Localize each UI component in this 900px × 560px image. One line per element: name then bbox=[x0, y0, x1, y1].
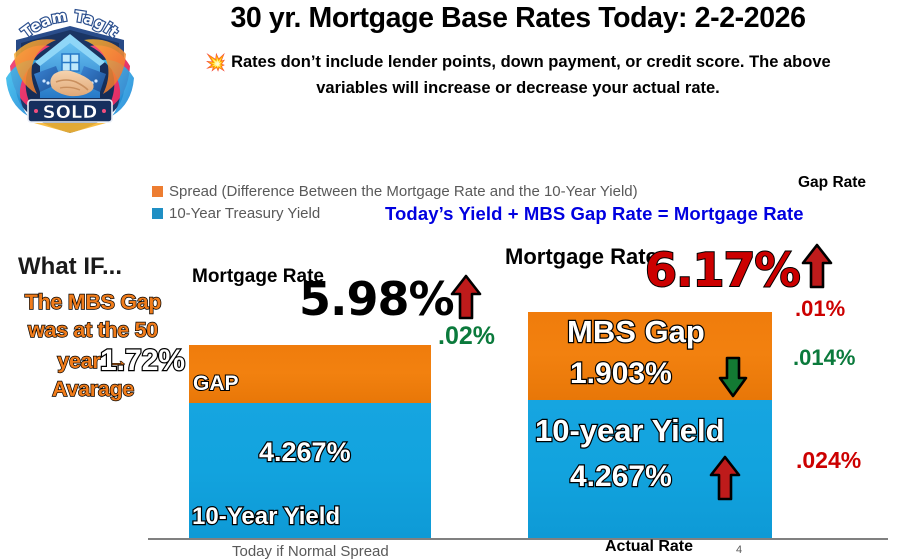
arrow-up-red-icon bbox=[449, 274, 483, 320]
legend-label-spread: Spread (Difference Between the Mortgage … bbox=[169, 183, 638, 200]
right-gap-value: 1.903% bbox=[570, 357, 672, 391]
right-delta-rate-value: .01% bbox=[795, 296, 845, 322]
team-tagit-sold-logo: SOLD Team Tagit bbox=[4, 2, 136, 136]
legend-swatch-spread-icon bbox=[152, 186, 163, 197]
right-mortgage-rate-label: Mortgage Rate bbox=[505, 245, 645, 270]
chart-axis-line bbox=[148, 538, 888, 540]
right-yield-value: 4.267% bbox=[570, 460, 672, 494]
left-gap-label: GAP bbox=[193, 372, 239, 396]
right-gap-label: MBS Gap bbox=[567, 314, 705, 350]
left-mortgage-rate-value: 5.98% bbox=[299, 272, 454, 326]
arrow-down-green-icon bbox=[718, 356, 748, 398]
formula-text: Today’s Yield + MBS Gap Rate = Mortgage … bbox=[385, 203, 804, 225]
left-delta-value: .02% bbox=[438, 322, 495, 351]
gap-rate-column-label: Gap Rate bbox=[798, 174, 866, 192]
slide-root: SOLD Team Tagit 30 yr. Mortgage Base Rat… bbox=[0, 0, 900, 560]
collision-burst-icon: 💥 bbox=[205, 53, 226, 72]
subtitle-text: Rates don’t include lender points, down … bbox=[231, 53, 831, 97]
legend-label-yield: 10-Year Treasury Yield bbox=[169, 205, 320, 222]
what-if-heading: What IF... bbox=[18, 253, 122, 281]
what-if-line-4: Avarage bbox=[4, 375, 182, 403]
left-yield-label: 10-Year Yield bbox=[192, 503, 340, 531]
what-if-line-1: The MBS Gap bbox=[4, 288, 182, 316]
category-label-right: Actual Rate bbox=[605, 538, 693, 556]
left-mortgage-rate-label: Mortgage Rate bbox=[192, 266, 302, 287]
right-yield-label: 10-year Yield bbox=[535, 413, 725, 449]
svg-text:SOLD: SOLD bbox=[43, 102, 98, 123]
category-label-left: Today if Normal Spread bbox=[232, 543, 389, 560]
page-title: 30 yr. Mortgage Base Rates Today: 2-2-20… bbox=[140, 2, 896, 35]
arrow-up-red-icon bbox=[709, 455, 741, 501]
page-subtitle: 💥 Rates don’t include lender points, dow… bbox=[168, 50, 868, 101]
what-if-line-2: was at the 50 bbox=[4, 316, 182, 344]
legend-item-spread: Spread (Difference Between the Mortgage … bbox=[152, 180, 638, 202]
page-number: 4 bbox=[736, 544, 742, 556]
left-gap-value: 1.72% bbox=[100, 344, 185, 378]
what-if-line-3: year bbox=[57, 349, 100, 373]
right-mortgage-rate-value: 6.17% bbox=[645, 243, 800, 297]
legend-swatch-yield-icon bbox=[152, 208, 163, 219]
left-yield-value: 4.267% bbox=[259, 437, 351, 468]
right-delta-gap-value: .014% bbox=[793, 345, 855, 371]
right-delta-yield-value: .024% bbox=[796, 447, 861, 474]
arrow-up-red-icon bbox=[800, 243, 834, 289]
